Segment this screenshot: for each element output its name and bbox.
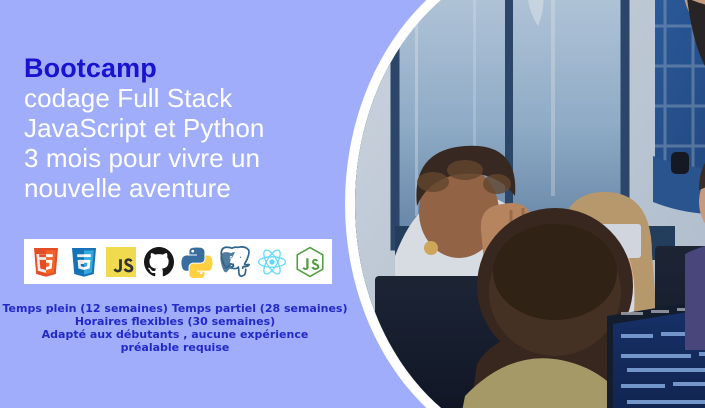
postgresql-icon <box>219 246 251 278</box>
html5-icon <box>30 246 62 278</box>
page-title: Bootcamp codage Full Stack JavaScript et… <box>24 53 344 203</box>
photo-frame <box>345 0 705 408</box>
python-icon <box>181 246 213 278</box>
detail-line-2: Horaires flexibles (30 semaines) <box>0 315 350 328</box>
react-icon <box>256 246 288 278</box>
heading-line-2: JavaScript et Python <box>24 113 344 143</box>
detail-line-3: Adapté aux débutants , aucune expérience… <box>0 328 350 354</box>
bootcamp-banner: Bootcamp codage Full Stack JavaScript et… <box>0 0 705 408</box>
classroom-photo <box>355 0 705 408</box>
heading-bootcamp: Bootcamp <box>24 53 344 83</box>
tech-stack-strip <box>24 239 332 284</box>
photo-ring <box>355 0 705 408</box>
heading-line-1: codage Full Stack <box>24 83 344 113</box>
nodejs-icon <box>294 246 326 278</box>
course-details: Temps plein (12 semaines) Temps partiel … <box>0 302 350 354</box>
detail-line-1: Temps plein (12 semaines) Temps partiel … <box>0 302 350 315</box>
heading-line-3: 3 mois pour vivre un <box>24 143 344 173</box>
heading-line-4: nouvelle aventure <box>24 173 344 203</box>
github-icon <box>143 246 175 278</box>
css3-icon <box>68 246 100 278</box>
javascript-icon <box>105 246 137 278</box>
